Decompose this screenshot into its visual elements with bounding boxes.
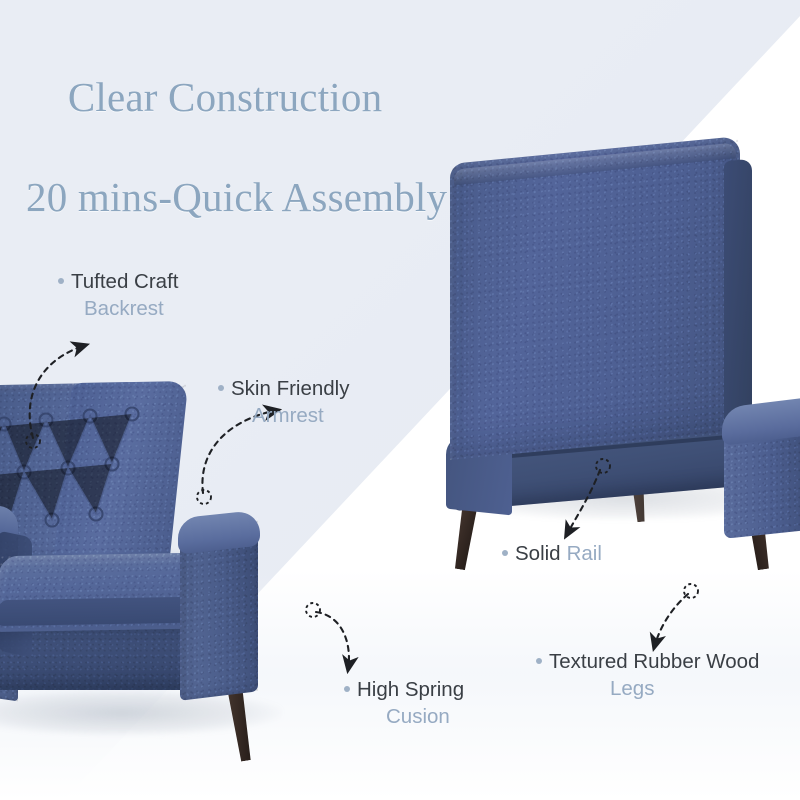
bullet-icon [502, 550, 508, 556]
callout-backrest-part: Backrest [58, 295, 178, 322]
bullet-icon [536, 658, 542, 664]
infographic-canvas: Clear Construction 20 mins-Quick Assembl… [0, 0, 800, 800]
bullet-icon [218, 385, 224, 391]
callout-rail-part: Rail [567, 542, 602, 565]
callout-rail: SolidRail [502, 540, 602, 567]
fabric-texture [450, 136, 740, 460]
callout-cushion-feature: High Spring [357, 678, 464, 701]
product-armchair-rear-view [436, 146, 800, 546]
callout-backrest: Tufted Craft Backrest [58, 268, 178, 323]
callout-backrest-feature: Tufted Craft [71, 270, 178, 293]
callout-armrest: Skin Friendly Armrest [218, 375, 350, 430]
callout-armrest-feature: Skin Friendly [231, 377, 350, 400]
bullet-icon [58, 278, 64, 284]
callout-armrest-part: Armrest [218, 402, 350, 429]
chair-rear-back-panel [450, 136, 740, 460]
callout-legs-feature: Textured Rubber Wood [549, 650, 759, 673]
callout-rail-feature: Solid [515, 542, 561, 565]
callout-cushion: High Spring Cusion [344, 676, 464, 731]
callout-legs: Textured Rubber Wood Legs [536, 648, 759, 703]
callout-legs-part: Legs [536, 675, 759, 702]
page-title-line-2: 20 mins-Quick Assembly [26, 172, 447, 222]
bullet-icon [344, 686, 350, 692]
callout-cushion-part: Cusion [344, 703, 464, 730]
page-title-line-1: Clear Construction [68, 74, 382, 120]
product-armchair-front-view [0, 384, 324, 800]
